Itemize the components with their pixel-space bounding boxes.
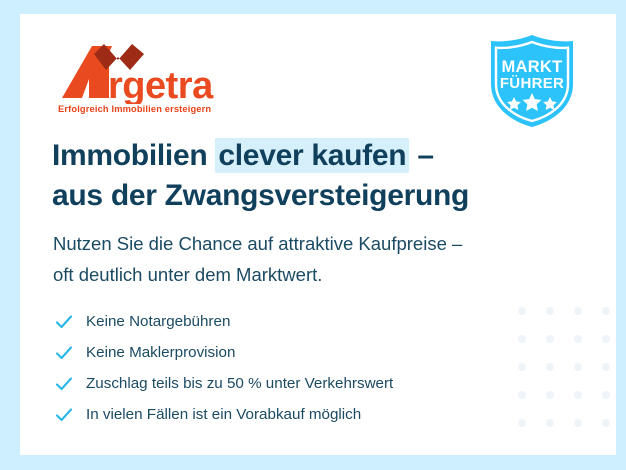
dot-grid-dot [574, 307, 582, 315]
subheadline-line-2: oft deutlich unter dem Marktwert. [53, 259, 573, 290]
headline-line1-pre: Immobilien [52, 139, 215, 172]
dot-grid-dot [518, 307, 526, 315]
dot-grid-dot [546, 307, 554, 315]
dot-grid-dot [546, 363, 554, 371]
headline-highlight: clever kaufen [215, 138, 409, 173]
dot-grid-dot [574, 419, 582, 427]
svg-text:rgetra: rgetra [108, 65, 214, 104]
dot-grid-dot [602, 419, 610, 427]
dot-grid-dot [602, 335, 610, 343]
dot-grid-dot [574, 363, 582, 371]
banner-card: rgetra Erfolgreich Immobilien ersteigern… [20, 14, 616, 455]
subheadline: Nutzen Sie die Chance auf attraktive Kau… [53, 228, 573, 290]
dot-grid-dot [602, 391, 610, 399]
logo-tagline: Erfolgreich Immobilien ersteigern [58, 104, 211, 114]
dot-grid-dot [546, 335, 554, 343]
badge-line1-text: MARKT [501, 58, 562, 76]
benefit-list-item: Keine Notargebühren [54, 306, 514, 337]
dot-grid-dot [602, 307, 610, 315]
check-icon [54, 374, 80, 394]
benefit-list-item-label: Zuschlag teils bis zu 50 % unter Verkehr… [86, 375, 393, 392]
dot-grid-dot [574, 335, 582, 343]
benefit-list-item-label: Keine Maklerprovision [86, 344, 235, 361]
benefit-list-item: Keine Maklerprovision [54, 337, 514, 368]
dot-grid-dot [518, 335, 526, 343]
check-icon [54, 405, 80, 425]
market-leader-badge: MARKT FÜHRER [485, 32, 579, 130]
dot-grid-dot [546, 391, 554, 399]
headline-line1-post: – [409, 139, 433, 172]
dot-grid-dot [518, 419, 526, 427]
benefit-list-item-label: Keine Notargebühren [86, 313, 230, 330]
dot-grid-decoration [518, 307, 616, 442]
argetra-logo[interactable]: rgetra Erfolgreich Immobilien ersteigern [56, 42, 246, 126]
dot-grid-dot [518, 363, 526, 371]
check-icon [54, 343, 80, 363]
headline-line-1: Immobilien clever kaufen – [52, 136, 572, 176]
dot-grid-dot [546, 419, 554, 427]
subheadline-line-1: Nutzen Sie die Chance auf attraktive Kau… [53, 228, 573, 259]
dot-grid-dot [574, 391, 582, 399]
promo-banner: rgetra Erfolgreich Immobilien ersteigern… [0, 0, 626, 470]
benefit-list-item: In vielen Fällen ist ein Vorabkauf mögli… [54, 399, 514, 430]
benefit-list-item-label: In vielen Fällen ist ein Vorabkauf mögli… [86, 406, 361, 423]
dot-grid-dot [518, 391, 526, 399]
headline: Immobilien clever kaufen – aus der Zwang… [52, 136, 572, 216]
headline-line-2: aus der Zwangsversteigerung [52, 176, 572, 216]
argetra-roof-logo-icon: rgetra [56, 42, 246, 104]
badge-line2-text: FÜHRER [500, 75, 564, 92]
dot-grid-dot [602, 363, 610, 371]
check-icon [54, 312, 80, 332]
benefit-list-item: Zuschlag teils bis zu 50 % unter Verkehr… [54, 368, 514, 399]
benefit-list: Keine NotargebührenKeine Maklerprovision… [54, 306, 514, 430]
